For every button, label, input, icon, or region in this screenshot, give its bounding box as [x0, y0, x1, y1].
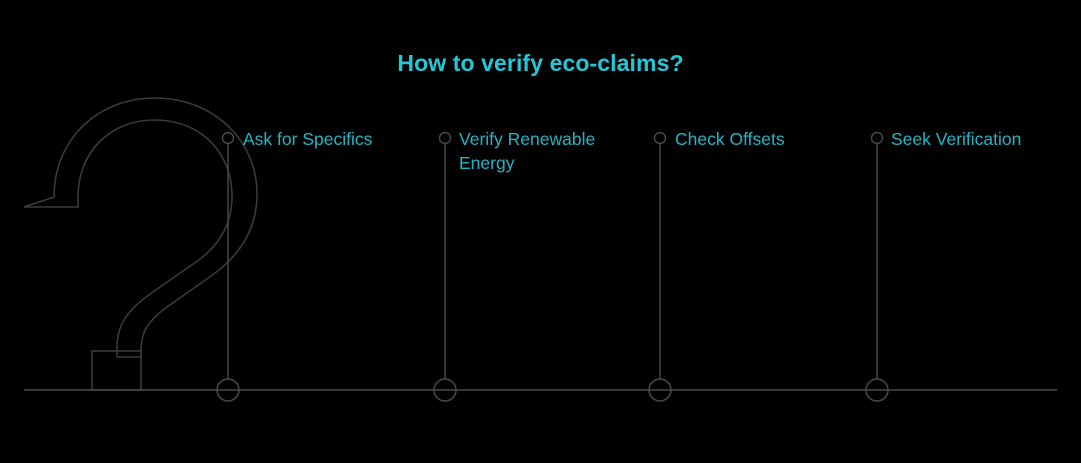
timeline-stage-marker[interactable] — [866, 133, 888, 402]
stage-label-verify-renewable-energy[interactable]: Verify Renewable Energy — [459, 127, 629, 175]
timeline-stage-marker[interactable] — [434, 133, 456, 402]
stage-label-seek-verification[interactable]: Seek Verification — [891, 127, 1021, 151]
stage-top-dot-icon — [440, 133, 451, 144]
timeline-stage-marker[interactable] — [217, 133, 239, 402]
question-mark-icon — [24, 98, 257, 390]
timeline-stage-marker[interactable] — [649, 133, 671, 402]
stage-label-check-offsets[interactable]: Check Offsets — [675, 127, 785, 151]
stage-top-dot-icon — [655, 133, 666, 144]
stage-top-dot-icon — [872, 133, 883, 144]
infographic-canvas: How to verify eco-claims? Ask for Specif… — [0, 0, 1081, 463]
stage-label-ask-for-specifics[interactable]: Ask for Specifics — [243, 127, 372, 151]
page-title: How to verify eco-claims? — [0, 48, 1081, 78]
stage-top-dot-icon — [223, 133, 234, 144]
